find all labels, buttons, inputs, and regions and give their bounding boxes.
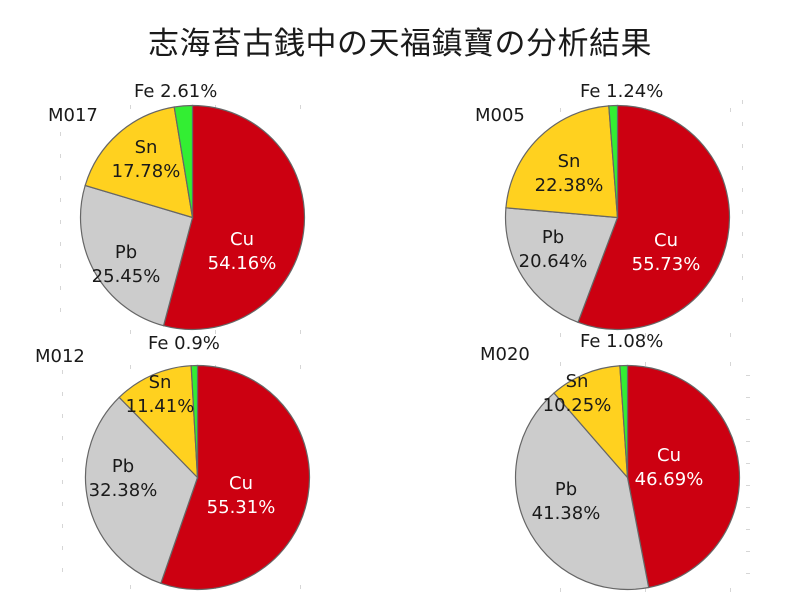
axis-tick bbox=[60, 132, 61, 136]
axis-tick bbox=[62, 568, 63, 572]
axis-tick bbox=[60, 154, 61, 158]
slice-label-sn-value: 10.25% bbox=[543, 395, 612, 416]
slice-label-sn-name: Sn bbox=[149, 372, 172, 393]
sample-label-m012: M012 bbox=[35, 346, 85, 367]
axis-tick bbox=[742, 144, 743, 148]
pie-panel-m020: Cu 46.69% Pb 41.38% Sn 10.25% M020 Fe 1.… bbox=[505, 355, 750, 600]
axis-tick bbox=[62, 546, 63, 550]
sample-label-m020: M020 bbox=[480, 344, 530, 365]
sample-label-m017: M017 bbox=[48, 105, 98, 126]
axis-tick bbox=[742, 188, 743, 192]
axis-tick bbox=[60, 308, 61, 312]
pie-panel-m012: Cu 55.31% Pb 32.38% Sn 11.41% M012 Fe 0.… bbox=[75, 355, 320, 600]
axis-tick bbox=[62, 458, 63, 462]
axis-tick bbox=[742, 122, 743, 126]
axis-tick bbox=[742, 254, 743, 258]
axis-tick bbox=[742, 232, 743, 236]
axis-tick bbox=[742, 298, 743, 302]
slice-label-pb-value: 20.64% bbox=[519, 251, 588, 272]
pie-svg-m017: Cu 54.16% Pb 25.45% Sn 17.78% bbox=[70, 95, 315, 340]
axis-tick bbox=[60, 286, 61, 290]
axis-tick bbox=[62, 502, 63, 506]
axis-tick bbox=[60, 242, 61, 246]
axis-tick bbox=[742, 100, 743, 104]
page-title: 志海苔古銭中の天福鎮寶の分析結果 bbox=[0, 18, 800, 63]
slice-label-cu-value: 46.69% bbox=[635, 469, 704, 490]
axis-tick bbox=[742, 276, 743, 280]
fe-label-m005: Fe 1.24% bbox=[580, 81, 663, 102]
slice-label-pb-value: 25.45% bbox=[92, 266, 161, 287]
pie-panel-m005: Cu 55.73% Pb 20.64% Sn 22.38% M005 Fe 1.… bbox=[495, 95, 740, 340]
pie-svg-m005: Cu 55.73% Pb 20.64% Sn 22.38% bbox=[495, 95, 740, 340]
slice-label-cu-value: 54.16% bbox=[208, 253, 277, 274]
slice-label-sn-name: Sn bbox=[558, 151, 581, 172]
axis-tick bbox=[60, 198, 61, 202]
slice-label-pb-name: Pb bbox=[112, 456, 134, 477]
slice-label-cu-value: 55.31% bbox=[207, 497, 276, 518]
pie-panel-m017: Cu 54.16% Pb 25.45% Sn 17.78% M017 Fe 2.… bbox=[70, 95, 315, 340]
axis-tick bbox=[742, 210, 743, 214]
slice-label-sn-value: 11.41% bbox=[126, 396, 195, 417]
slice-label-cu-value: 55.73% bbox=[632, 254, 701, 275]
slice-label-cu-name: Cu bbox=[229, 473, 253, 494]
slice-label-cu-name: Cu bbox=[654, 230, 678, 251]
axis-tick bbox=[62, 524, 63, 528]
axis-tick bbox=[62, 436, 63, 440]
slice-label-sn-name: Sn bbox=[566, 371, 589, 392]
sample-label-m005: M005 bbox=[475, 105, 525, 126]
slice-label-pb-value: 32.38% bbox=[89, 480, 158, 501]
fe-label-m020: Fe 1.08% bbox=[580, 331, 663, 352]
slice-label-pb-name: Pb bbox=[555, 479, 577, 500]
fe-label-m012: Fe 0.9% bbox=[148, 333, 220, 354]
axis-tick bbox=[60, 264, 61, 268]
axis-tick bbox=[62, 480, 63, 484]
fe-label-m017: Fe 2.61% bbox=[134, 81, 217, 102]
slice-label-sn-name: Sn bbox=[135, 137, 158, 158]
axis-tick bbox=[60, 176, 61, 180]
axis-tick bbox=[742, 166, 743, 170]
slice-label-pb-name: Pb bbox=[115, 242, 137, 263]
axis-tick bbox=[62, 370, 63, 374]
slice-label-pb-value: 41.38% bbox=[532, 503, 601, 524]
axis-tick bbox=[62, 414, 63, 418]
slice-label-cu-name: Cu bbox=[230, 229, 254, 250]
slice-label-pb-name: Pb bbox=[542, 227, 564, 248]
pie-svg-m020: Cu 46.69% Pb 41.38% Sn 10.25% bbox=[505, 355, 750, 600]
slice-label-cu-name: Cu bbox=[657, 445, 681, 466]
slice-label-sn-value: 22.38% bbox=[535, 175, 604, 196]
axis-tick bbox=[62, 392, 63, 396]
axis-tick bbox=[60, 220, 61, 224]
pie-svg-m012: Cu 55.31% Pb 32.38% Sn 11.41% bbox=[75, 355, 320, 600]
pie-chart-figure: 志海苔古銭中の天福鎮寶の分析結果 Cu 54.16% Pb 25.45% Sn … bbox=[0, 0, 800, 600]
slice-label-sn-value: 17.78% bbox=[112, 161, 181, 182]
